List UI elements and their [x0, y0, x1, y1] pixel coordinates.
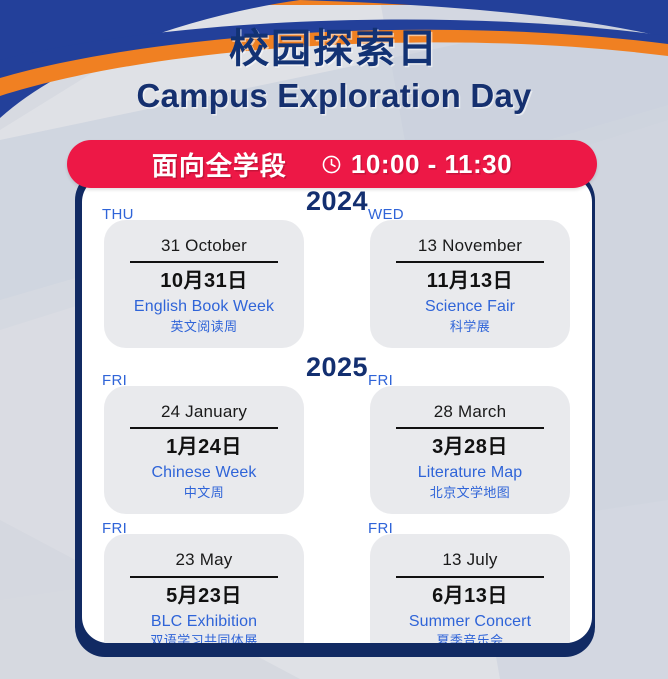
event-title-cn: 英文阅读周 — [116, 319, 292, 336]
time-range-label: 10:00 - 11:30 — [351, 149, 512, 180]
events-row-2025-second: FRI 23 May 5月23日 BLC Exhibition 双语学习共同体展… — [104, 534, 570, 643]
event-divider — [130, 427, 278, 429]
event-card[interactable]: FRI 24 January 1月24日 Chinese Week 中文周 — [104, 386, 304, 514]
event-card[interactable]: FRI 13 July 6月13日 Summer Concert 夏季音乐会 — [370, 534, 570, 643]
event-date-cn: 1月24日 — [116, 435, 292, 460]
year-label-2024: 2024 — [306, 186, 368, 216]
page-title-en: Campus Exploration Day — [0, 75, 668, 116]
audience-time-banner: 面向全学段 10:00 - 11:30 — [67, 140, 597, 188]
event-title-cn: 科学展 — [382, 319, 558, 336]
year-heading-2025-row: 2025 — [104, 352, 570, 386]
poster-header: 校园探索日 Campus Exploration Day — [0, 26, 668, 116]
time-group: 10:00 - 11:30 — [321, 149, 512, 180]
year-label-2025: 2025 — [306, 352, 368, 382]
event-divider — [396, 261, 544, 263]
event-date-cn: 6月13日 — [382, 584, 558, 609]
event-title-cn: 中文周 — [116, 485, 292, 502]
event-divider — [396, 576, 544, 578]
event-date-en: 13 July — [382, 550, 558, 574]
clock-icon — [321, 154, 342, 175]
schedule-panel: 2024 THU 31 October 10月31日 English Book … — [82, 176, 592, 643]
event-date-cn: 11月13日 — [382, 269, 558, 294]
event-date-en: 31 October — [116, 236, 292, 260]
events-row-2024: THU 31 October 10月31日 English Book Week … — [104, 220, 570, 348]
event-title-en: Chinese Week — [116, 463, 292, 484]
event-title-en: BLC Exhibition — [116, 612, 292, 633]
event-card[interactable]: WED 13 November 11月13日 Science Fair 科学展 — [370, 220, 570, 348]
event-date-cn: 3月28日 — [382, 435, 558, 460]
event-weekday: FRI — [368, 520, 393, 537]
event-title-cn: 夏季音乐会 — [382, 633, 558, 643]
year-heading-2024-row: 2024 — [104, 186, 570, 220]
event-weekday: FRI — [102, 520, 127, 537]
audience-label: 面向全学段 — [152, 146, 287, 183]
event-title-en: Summer Concert — [382, 612, 558, 633]
event-date-cn: 10月31日 — [116, 269, 292, 294]
page-title-cn: 校园探索日 — [0, 26, 668, 73]
poster-root: 校园探索日 Campus Exploration Day 2024 THU 31… — [0, 0, 668, 679]
event-title-en: Science Fair — [382, 297, 558, 318]
event-card[interactable]: FRI 23 May 5月23日 BLC Exhibition 双语学习共同体展 — [104, 534, 304, 643]
event-title-cn: 双语学习共同体展 — [116, 633, 292, 643]
event-date-en: 23 May — [116, 550, 292, 574]
event-divider — [130, 261, 278, 263]
event-date-en: 13 November — [382, 236, 558, 260]
event-date-en: 28 March — [382, 402, 558, 426]
row-spacer — [104, 514, 570, 534]
event-date-cn: 5月23日 — [116, 584, 292, 609]
event-title-en: English Book Week — [116, 297, 292, 318]
event-card[interactable]: FRI 28 March 3月28日 Literature Map 北京文学地图 — [370, 386, 570, 514]
event-title-en: Literature Map — [382, 463, 558, 484]
event-title-cn: 北京文学地图 — [382, 485, 558, 502]
top-orange-rule — [0, 0, 668, 5]
event-card[interactable]: THU 31 October 10月31日 English Book Week … — [104, 220, 304, 348]
event-divider — [130, 576, 278, 578]
schedule-panel-inner: 2024 THU 31 October 10月31日 English Book … — [82, 176, 592, 643]
event-date-en: 24 January — [116, 402, 292, 426]
event-divider — [396, 427, 544, 429]
events-row-2025-first: FRI 24 January 1月24日 Chinese Week 中文周 FR… — [104, 386, 570, 514]
